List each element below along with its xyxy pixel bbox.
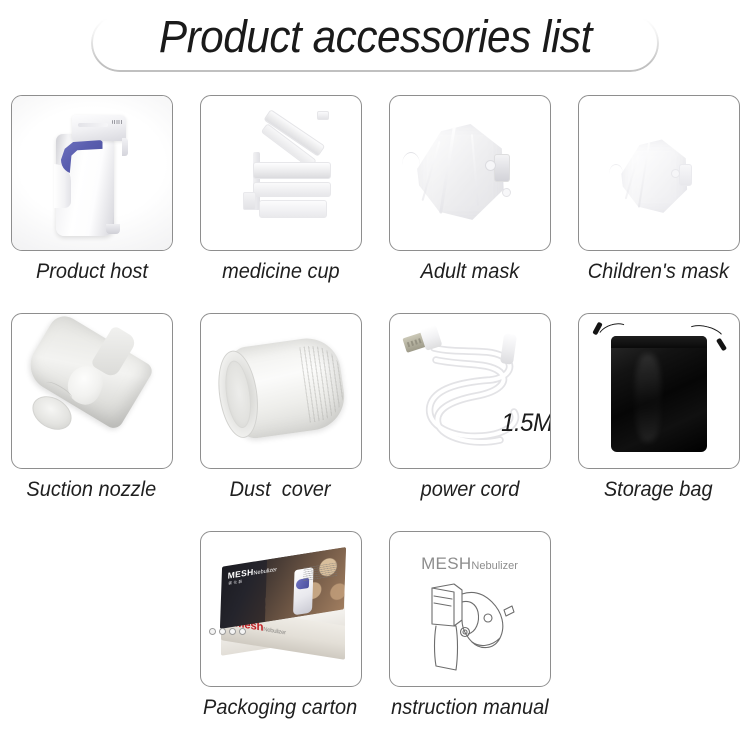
- accessory-card[interactable]: [200, 95, 362, 251]
- accessory-card[interactable]: MeshNebulizer MESHNebulizer 雾化器: [200, 531, 362, 687]
- accessory-item-instruction-manual[interactable]: MESHNebulizer: [389, 531, 551, 719]
- mask-valve-ring: [671, 169, 680, 178]
- adult-mask-icon: [390, 96, 550, 250]
- accessory-card[interactable]: 1.5M: [389, 313, 551, 469]
- accessory-card[interactable]: [11, 313, 173, 469]
- accessory-item-suction-nozzle[interactable]: Suction nozzle: [11, 313, 173, 501]
- title-pill-frame: Product accessories list: [91, 12, 660, 66]
- manual-line-drawing: [418, 580, 524, 672]
- accessory-item-product-host[interactable]: Product host: [11, 95, 173, 283]
- device-nose: [122, 138, 128, 156]
- cup-block-1: [253, 162, 331, 179]
- accessory-item-dust-cover[interactable]: Dust cover: [200, 313, 362, 501]
- accessory-image-children-mask: [579, 96, 739, 250]
- mask-clip: [502, 188, 511, 197]
- accessory-label: Children's mask: [588, 260, 729, 283]
- accessory-image-packaging-carton: MeshNebulizer MESHNebulizer 雾化器: [201, 532, 361, 686]
- accessory-label: Adult mask: [420, 260, 519, 283]
- accessory-image-adult-mask: [390, 96, 550, 250]
- nebulizer-device-icon: [50, 112, 128, 236]
- manual-brand-title: MESHNebulizer: [390, 554, 550, 574]
- accessory-image-power-cord: 1.5M: [390, 314, 550, 468]
- device-vent: [112, 120, 123, 124]
- suction-nozzle-icon: [26, 330, 154, 448]
- page-title: Product accessories list: [158, 14, 591, 60]
- accessory-label: nstruction manual: [391, 696, 548, 719]
- retail-box-icon: MeshNebulizer MESHNebulizer 雾化器: [201, 532, 361, 686]
- cup-block-3: [259, 200, 327, 218]
- accessory-label: medicine cup: [222, 260, 340, 283]
- accessory-card[interactable]: [11, 95, 173, 251]
- dust-cover-icon: [210, 333, 354, 446]
- mask-cone: [414, 122, 506, 224]
- accessory-card[interactable]: [578, 313, 740, 469]
- accessory-image-product-host: [12, 96, 172, 250]
- accessory-label: Suction nozzle: [27, 478, 157, 501]
- accessory-item-storage-bag[interactable]: Storage bag: [578, 313, 740, 501]
- device-foot: [106, 224, 120, 234]
- children-mask-icon: [579, 96, 739, 250]
- usb-cable-icon: 1.5M: [390, 314, 550, 468]
- accessory-card[interactable]: [200, 313, 362, 469]
- accessory-image-storage-bag: [579, 314, 739, 468]
- accessory-item-medicine-cup[interactable]: medicine cup: [200, 95, 362, 283]
- cup-block-2: [253, 182, 331, 197]
- accessory-item-power-cord[interactable]: 1.5M power cord: [389, 313, 551, 501]
- drawstring-pouch-icon: [579, 314, 739, 468]
- mask-port: [494, 154, 510, 182]
- mask-strap-loop: [402, 152, 420, 178]
- accessory-row-3: MeshNebulizer MESHNebulizer 雾化器: [0, 531, 750, 719]
- pouch-highlight: [635, 354, 661, 442]
- accessory-image-suction-nozzle: [12, 314, 172, 468]
- accessory-card[interactable]: MESHNebulizer: [389, 531, 551, 687]
- box-cert-icons: [209, 628, 246, 635]
- device-slot: [78, 123, 108, 127]
- pouch-collar: [611, 336, 707, 348]
- cup-tip: [317, 111, 329, 120]
- accessory-image-instruction-manual: MESHNebulizer: [390, 532, 550, 686]
- accessory-row-2: Suction nozzle Dust cover: [0, 313, 750, 501]
- accessory-label: power cord: [420, 478, 519, 501]
- medicine-cup-icon: [201, 96, 361, 250]
- accessory-item-packaging-carton[interactable]: MeshNebulizer MESHNebulizer 雾化器: [200, 531, 362, 719]
- accessory-label: Product host: [35, 260, 147, 283]
- mask-port: [679, 164, 692, 186]
- accessory-row-1: Product host medicin: [0, 95, 750, 283]
- manual-sheet-icon: MESHNebulizer: [390, 532, 550, 686]
- accessory-item-adult-mask[interactable]: Adult mask: [389, 95, 551, 283]
- accessory-card[interactable]: [389, 95, 551, 251]
- accessory-label: Storage bag: [604, 478, 713, 501]
- page-header: Product accessories list: [0, 0, 750, 78]
- accessory-label: Packoging carton: [203, 696, 357, 719]
- cup-lug: [243, 192, 256, 210]
- box-top-brand-sub: 雾化器: [228, 579, 243, 586]
- accessory-card[interactable]: [578, 95, 740, 251]
- accessory-label: Dust cover: [230, 478, 331, 501]
- accessory-image-dust-cover: [201, 314, 361, 468]
- accessory-image-medicine-cup: [201, 96, 361, 250]
- box-product-photo: [264, 547, 346, 622]
- mask-strap-loop: [609, 164, 623, 184]
- device-top-cap: [72, 115, 126, 141]
- cable-length-label: 1.5M: [501, 409, 550, 438]
- product-accessories-page: Product accessories list: [0, 0, 750, 750]
- mask-valve-ring: [485, 160, 496, 171]
- accessory-item-children-mask[interactable]: Children's mask: [578, 95, 740, 283]
